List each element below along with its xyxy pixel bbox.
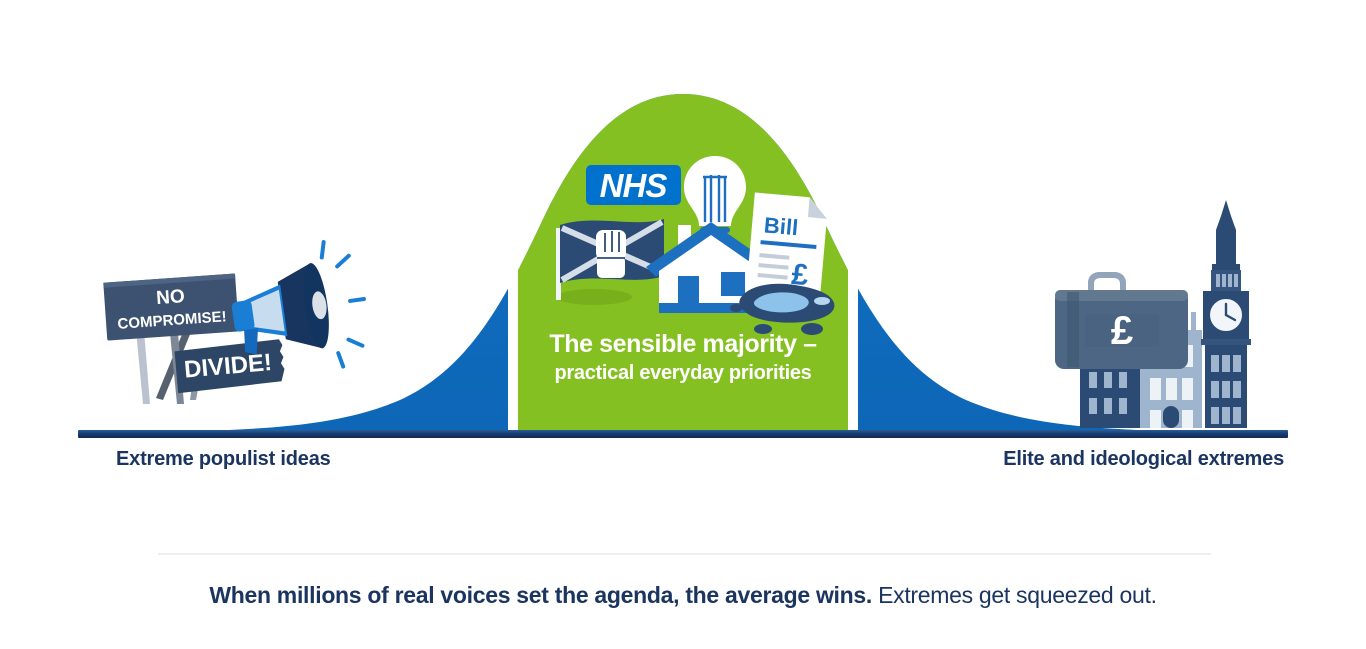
nhs-logo-text: NHS <box>600 167 668 204</box>
footer-caption-light: Extremes get squeezed out. <box>872 582 1157 608</box>
baseline-axis <box>78 430 1288 438</box>
footer-caption-strong: When millions of real voices set the age… <box>209 582 872 608</box>
sign-text-no: NO <box>156 286 186 309</box>
infographic-canvas: NO COMPROMISE! DIVIDE! <box>0 0 1366 649</box>
axis-label-left: Extreme populist ideas <box>116 448 331 471</box>
big-ben-clock-tower-icon <box>1201 200 1251 428</box>
footer-caption: When millions of real voices set the age… <box>0 582 1366 609</box>
axis-label-right: Elite and ideological extremes <box>1003 448 1284 471</box>
raised-fist-icon <box>596 230 626 278</box>
protest-signs-icon-group: NO COMPROMISE! DIVIDE! <box>103 274 286 404</box>
briefcase-icon: £ <box>1055 272 1188 369</box>
footer-divider <box>158 553 1211 555</box>
bell-curve-chart: NO COMPROMISE! DIVIDE! <box>0 0 1366 450</box>
nhs-logo-icon: NHS <box>586 165 681 205</box>
bill-heading-text: Bill <box>763 212 799 240</box>
megaphone-sound-lines-icon <box>320 238 373 368</box>
sign-no-compromise: NO COMPROMISE! <box>103 274 239 341</box>
sign-divide: DIVIDE! <box>174 339 286 393</box>
bill-document-icon: Bill £ <box>746 192 829 299</box>
briefcase-pound-symbol: £ <box>1111 309 1133 353</box>
bell-curve-svg: NO COMPROMISE! DIVIDE! <box>0 0 1366 450</box>
